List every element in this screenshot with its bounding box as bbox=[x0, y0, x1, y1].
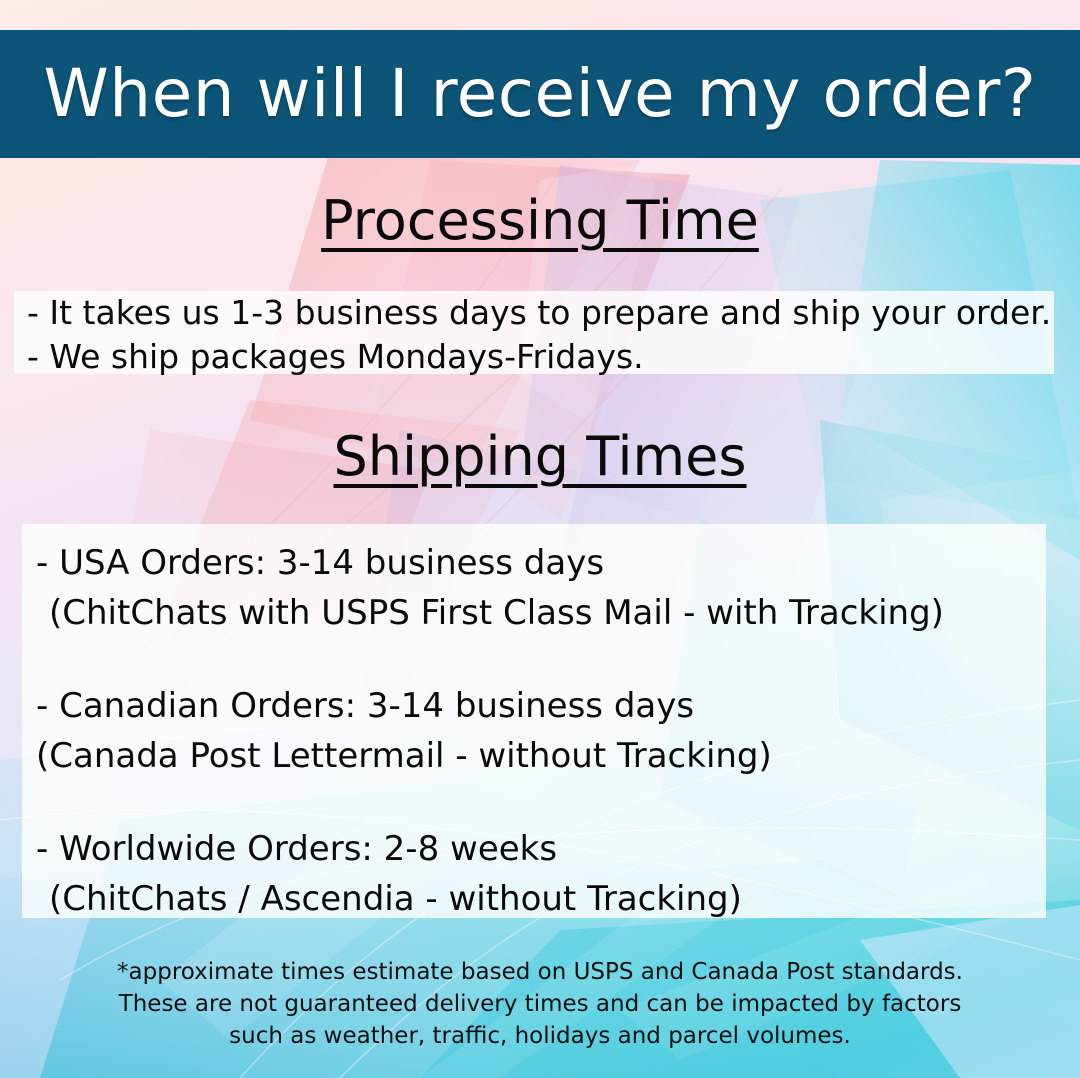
footnote-line-3: such as weather, traffic, holidays and p… bbox=[0, 1020, 1080, 1052]
shipping-worldwide-primary: - Worldwide Orders: 2-8 weeks bbox=[36, 824, 742, 874]
shipping-usa-primary: - USA Orders: 3-14 business days bbox=[36, 538, 944, 588]
section-heading-processing-time: Processing Time bbox=[0, 194, 1080, 248]
processing-time-panel: - It takes us 1-3 business days to prepa… bbox=[14, 291, 1054, 374]
section-heading-shipping-times: Shipping Times bbox=[0, 430, 1080, 484]
page-title: When will I receive my order? bbox=[44, 61, 1037, 127]
shipping-info-poster: When will I receive my order? Processing… bbox=[0, 0, 1080, 1078]
disclaimer-footnote: *approximate times estimate based on USP… bbox=[0, 956, 1080, 1052]
shipping-usa-secondary: (ChitChats with USPS First Class Mail - … bbox=[36, 588, 944, 638]
shipping-group-worldwide: - Worldwide Orders: 2-8 weeks (ChitChats… bbox=[36, 824, 742, 924]
shipping-canada-primary: - Canadian Orders: 3-14 business days bbox=[36, 681, 772, 731]
processing-line-1: - It takes us 1-3 business days to prepa… bbox=[27, 291, 1051, 335]
shipping-times-panel: - USA Orders: 3-14 business days (ChitCh… bbox=[22, 524, 1046, 918]
shipping-group-canada: - Canadian Orders: 3-14 business days (C… bbox=[36, 681, 772, 781]
footnote-line-1: *approximate times estimate based on USP… bbox=[0, 956, 1080, 988]
shipping-canada-secondary: (Canada Post Lettermail - without Tracki… bbox=[36, 731, 772, 781]
processing-line-2: - We ship packages Mondays-Fridays. bbox=[27, 335, 1051, 379]
header-banner: When will I receive my order? bbox=[0, 30, 1080, 158]
footnote-line-2: These are not guaranteed delivery times … bbox=[0, 988, 1080, 1020]
shipping-worldwide-secondary: (ChitChats / Ascendia - without Tracking… bbox=[36, 874, 742, 924]
shipping-group-usa: - USA Orders: 3-14 business days (ChitCh… bbox=[36, 538, 944, 638]
